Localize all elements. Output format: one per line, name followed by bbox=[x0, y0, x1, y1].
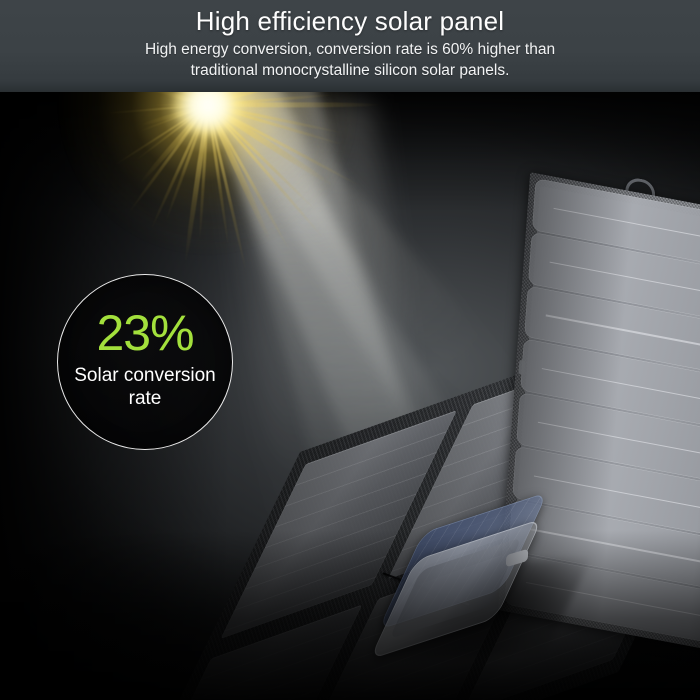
conversion-rate-label-line2: rate bbox=[74, 387, 216, 410]
page-subtitle: High energy conversion, conversion rate … bbox=[0, 39, 700, 81]
conversion-rate-label-line1: Solar conversion bbox=[74, 365, 216, 386]
conversion-rate-label: Solar conversion rate bbox=[74, 364, 216, 410]
subtitle-line-1: High energy conversion, conversion rate … bbox=[0, 39, 700, 60]
product-banner: High efficiency solar panel High energy … bbox=[0, 0, 700, 700]
conversion-rate-badge: 23% Solar conversion rate bbox=[57, 274, 233, 450]
page-title: High efficiency solar panel bbox=[0, 5, 700, 37]
header-banner: High efficiency solar panel High energy … bbox=[0, 0, 700, 92]
subtitle-line-2: traditional monocrystalline silicon sola… bbox=[0, 60, 700, 81]
conversion-rate-value: 23% bbox=[96, 308, 193, 358]
product-photo: 23% Solar conversion rate bbox=[0, 92, 700, 700]
